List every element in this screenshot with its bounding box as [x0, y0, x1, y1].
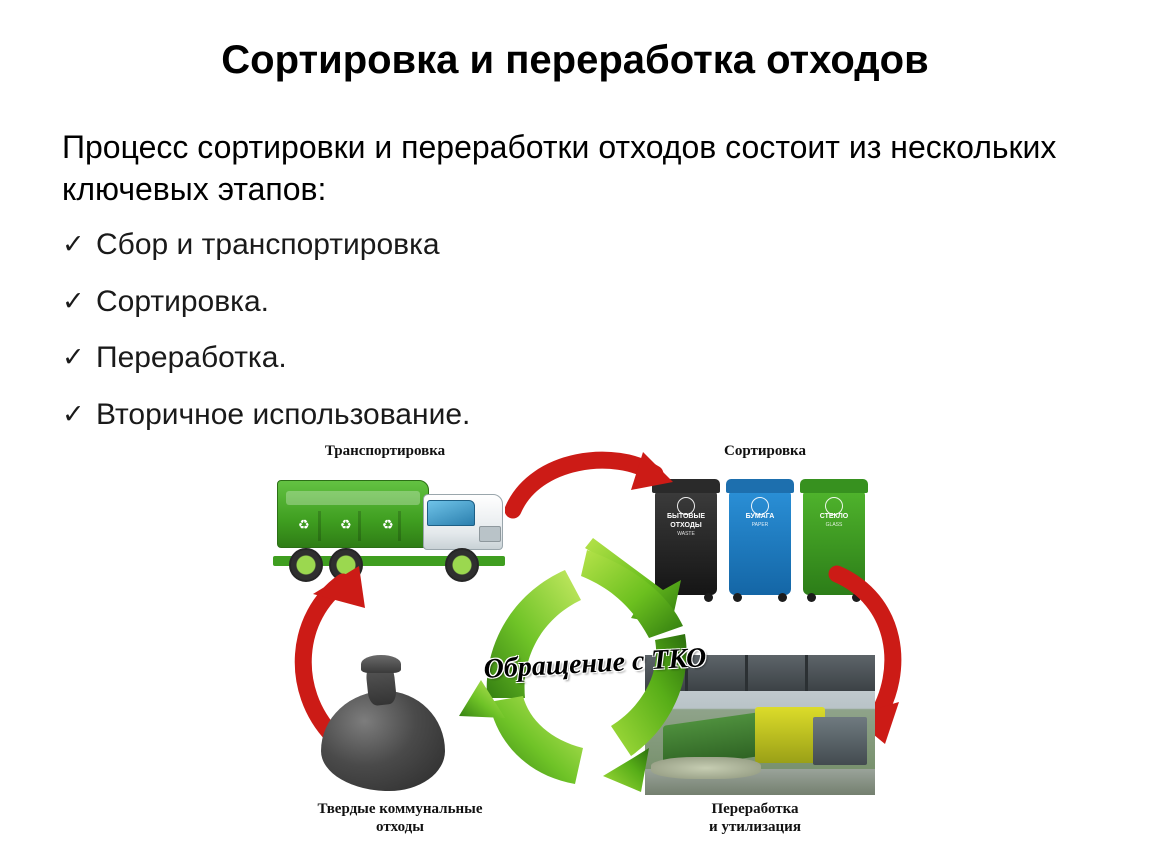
diagram-label-msw-line2: отходы — [255, 818, 545, 836]
trash-bag-icon — [315, 655, 450, 795]
recycle-symbol-large-icon: Обращение с ТКО — [435, 530, 735, 800]
list-item-label: Сортировка. — [96, 285, 862, 320]
list-item-label: Переработка. — [96, 341, 862, 376]
list-item: ✓ Переработка. — [62, 341, 862, 376]
slide: Сортировка и переработка отходов Процесс… — [0, 0, 1150, 864]
bin-paper: БУМАГА PAPER — [729, 491, 791, 595]
check-icon: ✓ — [62, 285, 96, 317]
bin-label-line1: СТЕКЛО — [811, 513, 857, 522]
trash-bag-tie — [361, 655, 401, 673]
bin-lid — [800, 479, 868, 493]
list-item: ✓ Сбор и транспортировка — [62, 228, 862, 263]
truck-body: ♻ ♻ ♻ — [277, 480, 429, 548]
list-item: ✓ Вторичное использование. — [62, 398, 862, 433]
bin-label-sub: PAPER — [737, 522, 783, 528]
diagram-label-transport: Транспортировка — [265, 442, 505, 460]
diagram-label-recycling: Переработка и утилизация — [640, 800, 870, 836]
recycle-symbol-icon: ♻ — [340, 517, 352, 533]
bin-label-line1: БУМАГА — [737, 513, 783, 522]
check-icon: ✓ — [62, 228, 96, 260]
arrow-transport-to-sorting — [505, 440, 675, 530]
check-icon: ✓ — [62, 341, 96, 373]
plant-machine-grey — [813, 717, 867, 765]
check-icon: ✓ — [62, 398, 96, 430]
bin-label: СТЕКЛО GLASS — [811, 513, 857, 528]
diagram-label-recycling-line2: и утилизация — [640, 818, 870, 836]
diagram-label-msw-line1: Твердые коммунальные — [255, 800, 545, 818]
recycle-symbol-icon: ♻ — [298, 517, 310, 533]
diagram-label-sorting: Сортировка — [655, 442, 875, 460]
bullet-list: ✓ Сбор и транспортировка ✓ Сортировка. ✓… — [62, 228, 862, 454]
list-item: ✓ Сортировка. — [62, 285, 862, 320]
bin-label: БУМАГА PAPER — [737, 513, 783, 528]
diagram-label-recycling-line1: Переработка — [640, 800, 870, 818]
list-item-label: Сбор и транспортировка — [96, 228, 862, 263]
recycle-symbol-icon: ♻ — [382, 517, 394, 533]
trash-bag-body — [321, 691, 445, 791]
bin-wheels — [733, 593, 787, 601]
diagram-label-msw: Твердые коммунальные отходы — [255, 800, 545, 836]
list-item-label: Вторичное использование. — [96, 398, 862, 433]
bin-lid — [726, 479, 794, 493]
truck-window — [427, 500, 475, 526]
waste-cycle-diagram: Транспортировка Сортировка Твердые комму… — [255, 430, 955, 860]
page-title: Сортировка и переработка отходов — [0, 38, 1150, 83]
bin-label-sub: GLASS — [811, 522, 857, 528]
intro-paragraph: Процесс сортировки и переработки отходов… — [62, 126, 1092, 210]
